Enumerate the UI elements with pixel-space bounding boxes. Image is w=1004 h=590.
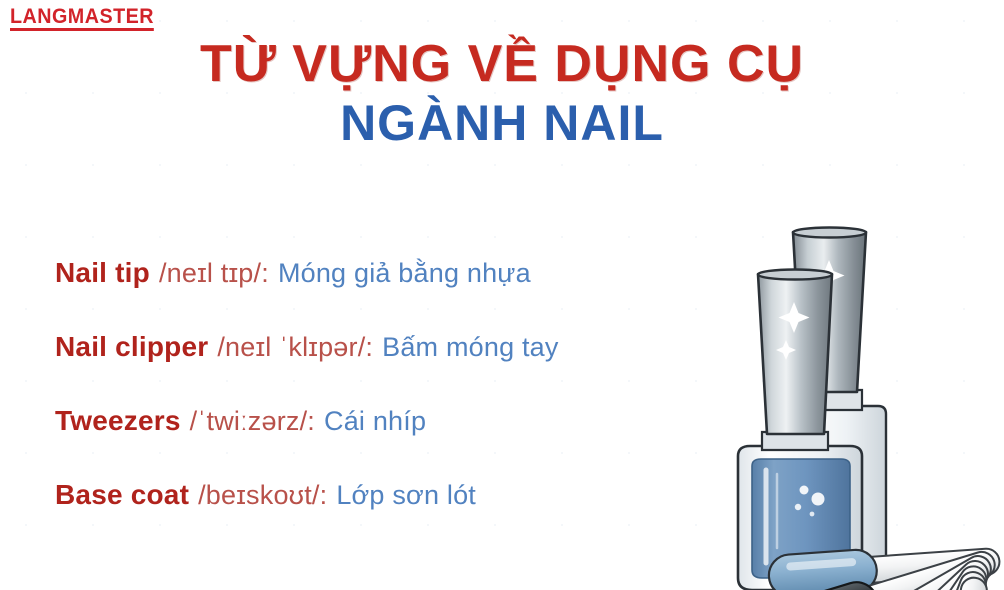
title-line-2: NGÀNH NAIL <box>0 95 1004 151</box>
vocabulary-ipa: /neɪl ˈklɪpər/: <box>217 332 373 363</box>
page-title: TỪ VỰNG VỀ DỤNG CỤ NGÀNH NAIL <box>0 36 1004 151</box>
vocabulary-entry: Nail tip /neɪl tɪp/: Móng giả bằng nhựa <box>55 236 795 310</box>
vocabulary-list: Nail tip /neɪl tɪp/: Móng giả bằng nhựa … <box>55 236 795 532</box>
tall-bottle-cap-top <box>793 228 866 238</box>
polish-bubble <box>795 504 801 510</box>
vocabulary-term: Nail clipper <box>55 331 208 363</box>
vocabulary-meaning: Lớp sơn lót <box>336 480 476 511</box>
polish-bubble <box>812 493 825 506</box>
polish-bubble <box>810 512 815 517</box>
vocabulary-meaning: Bấm móng tay <box>382 332 558 363</box>
polish-bubble <box>800 486 809 495</box>
vocabulary-entry: Tweezers /ˈtwiːzərz/: Cái nhíp <box>55 384 795 458</box>
poster-canvas: LANGMASTER TỪ VỰNG VỀ DỤNG CỤ NGÀNH NAIL… <box>0 0 1004 590</box>
vocabulary-meaning: Móng giả bằng nhựa <box>278 258 531 289</box>
vocabulary-ipa: /ˈtwiːzərz/: <box>190 406 315 437</box>
vocabulary-ipa: /beɪskoʊt/: <box>198 480 327 511</box>
vocabulary-entry: Base coat /beɪskoʊt/: Lớp sơn lót <box>55 458 795 532</box>
title-line-1: TỪ VỰNG VỀ DỤNG CỤ <box>0 36 1004 93</box>
nail-polish-illustration <box>736 218 1004 590</box>
vocabulary-term: Tweezers <box>55 405 181 437</box>
langmaster-logo: LANGMASTER <box>10 6 154 31</box>
vocabulary-meaning: Cái nhíp <box>324 406 426 437</box>
small-bottle-cap <box>758 274 832 434</box>
small-bottle-cap-top <box>758 270 832 280</box>
vocabulary-ipa: /neɪl tɪp/: <box>159 258 269 289</box>
vocabulary-term: Base coat <box>55 479 189 511</box>
vocabulary-term: Nail tip <box>55 257 150 289</box>
vocabulary-entry: Nail clipper /neɪl ˈklɪpər/: Bấm móng ta… <box>55 310 795 384</box>
